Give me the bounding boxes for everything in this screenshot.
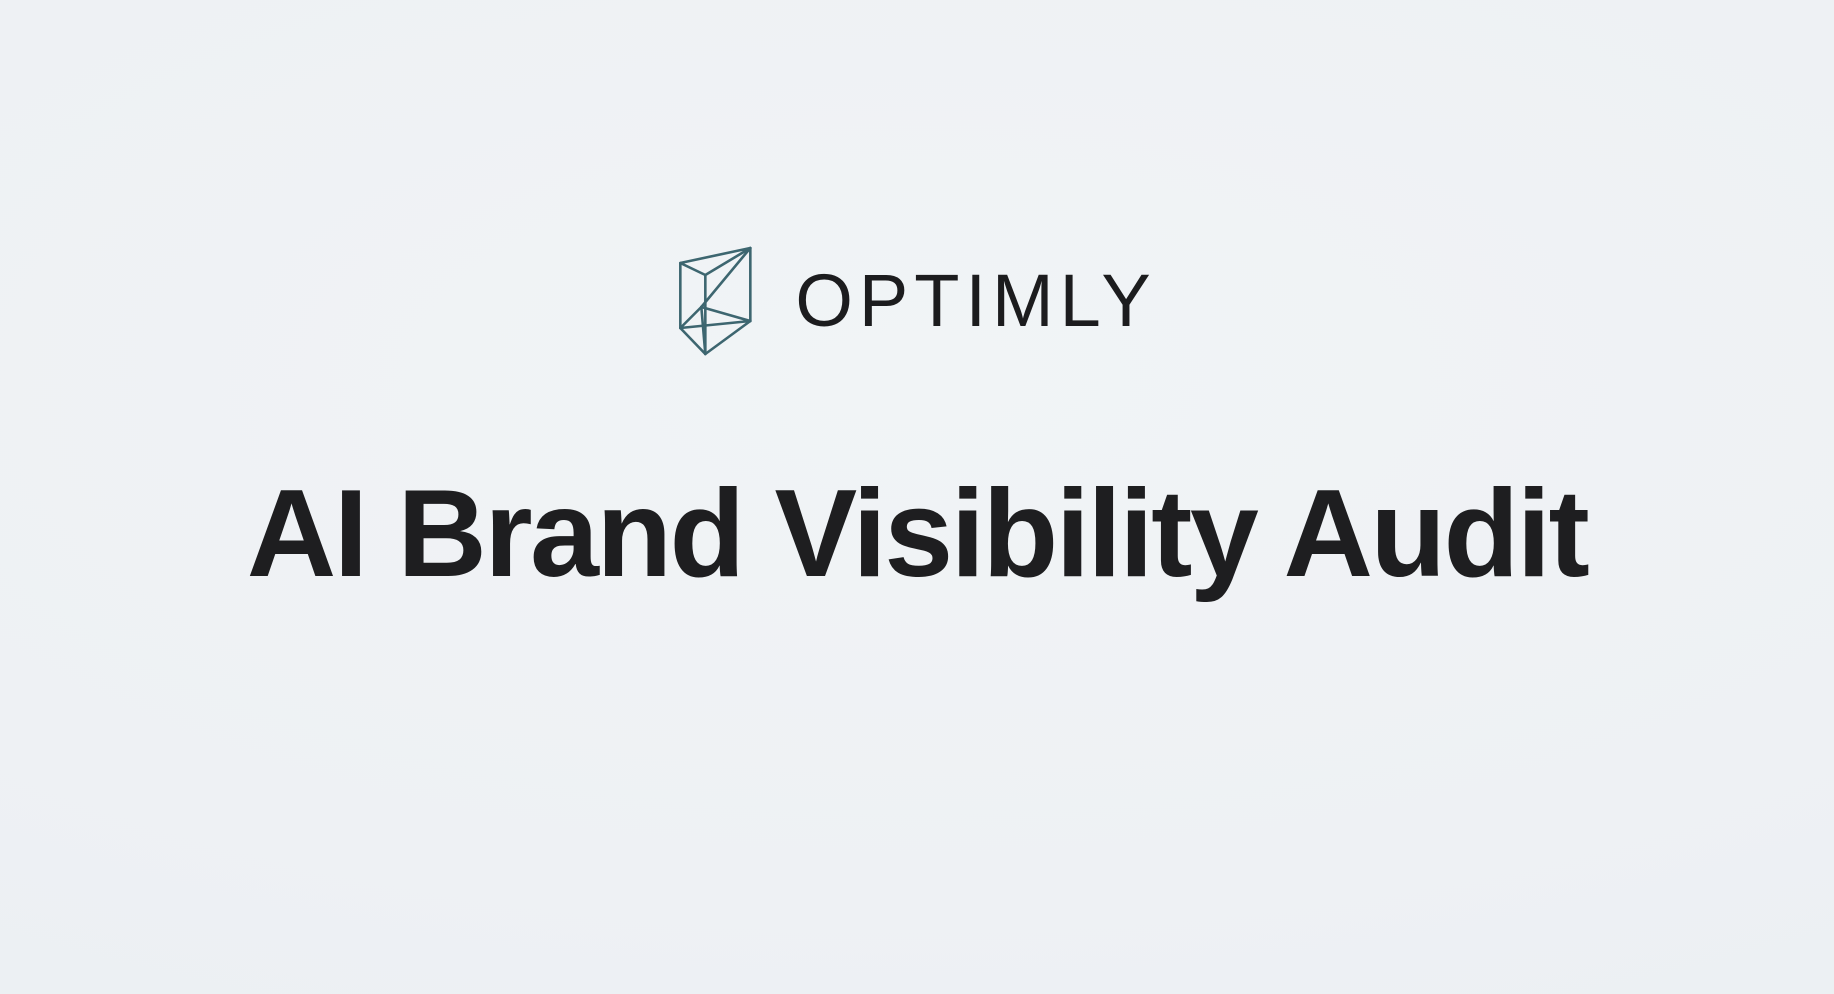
page-title: AI Brand Visibility Audit bbox=[0, 468, 1834, 602]
brand-lockup: OPTIMLY bbox=[677, 245, 1156, 357]
cover-slide: OPTIMLY AI Brand Visibility Audit bbox=[0, 0, 1834, 994]
optimly-wordmark: OPTIMLY bbox=[795, 264, 1156, 338]
optimly-logo-mark bbox=[677, 245, 753, 357]
triangular-prism-icon bbox=[677, 245, 753, 357]
